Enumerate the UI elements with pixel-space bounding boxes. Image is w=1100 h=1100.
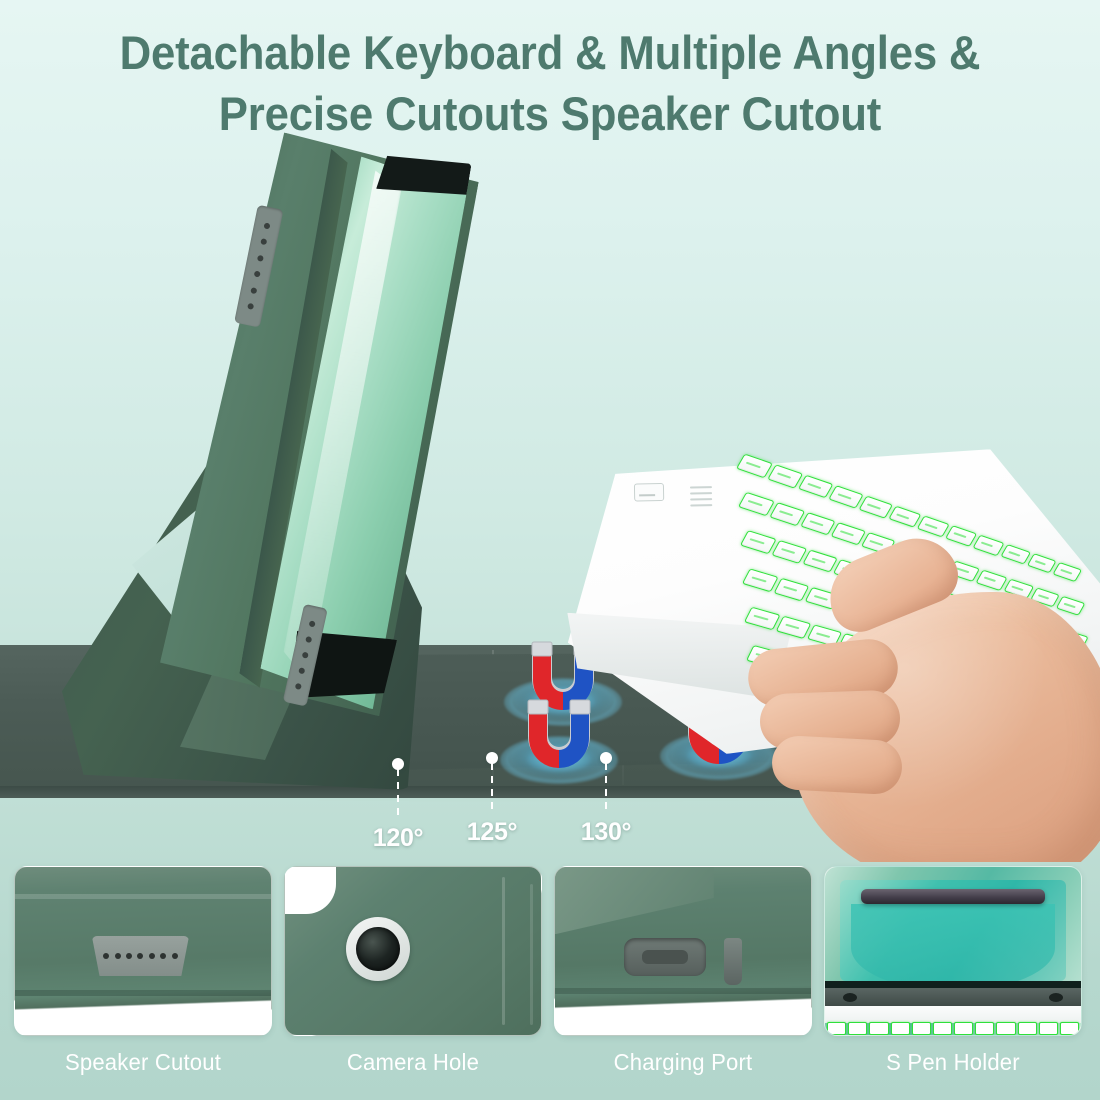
angle-label: 125°: [458, 818, 526, 847]
speaker-grille-icon: [92, 936, 189, 976]
feature-caption: Charging Port: [559, 1049, 807, 1076]
page-title: Detachable Keyboard & Multiple Angles & …: [0, 22, 1100, 144]
usb-c-port-icon: [624, 938, 706, 977]
title-line-2: Precise Cutouts Speaker Cutout: [39, 83, 1062, 144]
feature-panel-camera-hole[interactable]: Camera Hole: [284, 866, 542, 1100]
feature-panel-speaker-cutout[interactable]: Speaker Cutout: [14, 866, 272, 1100]
feature-panel-s-pen-holder[interactable]: S Pen Holder: [824, 866, 1082, 1100]
title-line-1: Detachable Keyboard & Multiple Angles &: [39, 22, 1062, 83]
callout-line: [491, 763, 493, 815]
speaker-cutout-image: [14, 866, 272, 1036]
feature-caption: S Pen Holder: [829, 1049, 1077, 1076]
callout-line: [605, 763, 607, 815]
keyboard-row-icon: [825, 1022, 1081, 1035]
charging-port-image: [554, 866, 812, 1036]
feature-caption: Speaker Cutout: [19, 1049, 267, 1076]
angle-label: 120°: [364, 824, 432, 853]
angle-label: 130°: [572, 818, 640, 847]
camera-lens-icon: [346, 917, 410, 981]
s-pen-icon: [861, 889, 1045, 904]
feature-panel-row: Speaker Cutout Camera Hole Charging Port: [0, 866, 1100, 1100]
feature-caption: Camera Hole: [289, 1049, 537, 1076]
camera-hole-image: [284, 866, 542, 1036]
callout-line: [397, 769, 399, 821]
s-pen-holder-image: [824, 866, 1082, 1036]
feature-panel-charging-port[interactable]: Charging Port: [554, 866, 812, 1100]
